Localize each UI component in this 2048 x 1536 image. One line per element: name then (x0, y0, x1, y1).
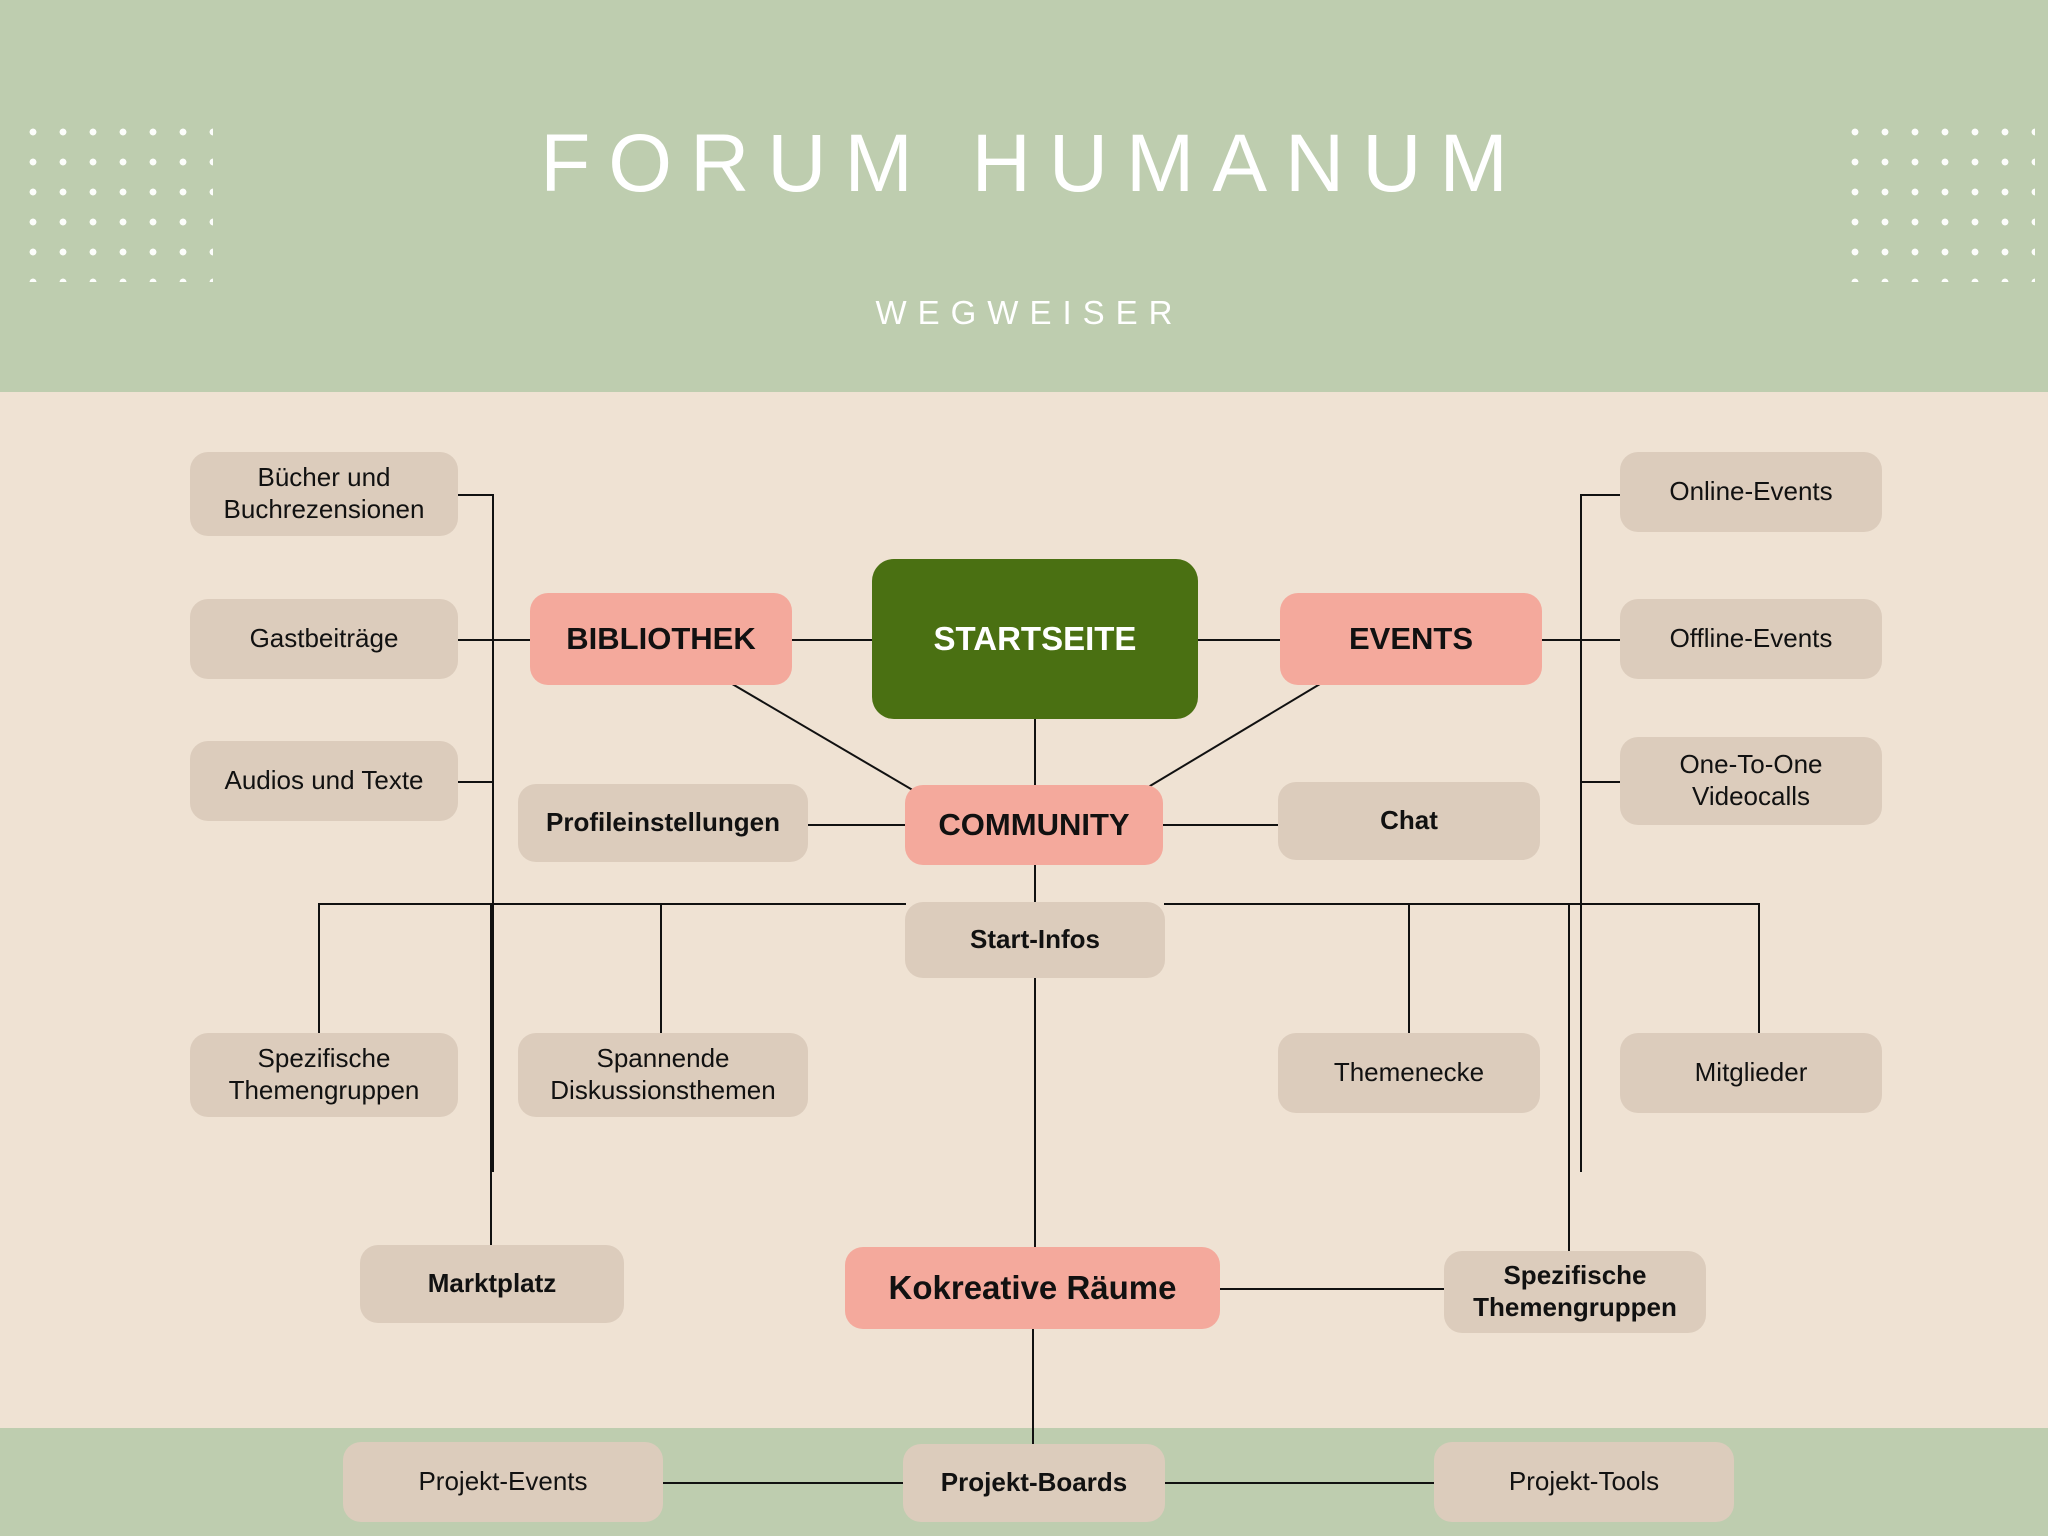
connector-buecher (458, 494, 494, 496)
connector-videocalls (1580, 781, 1620, 783)
node-label: Offline-Events (1670, 623, 1833, 655)
node-label: One-To-One Videocalls (1630, 749, 1872, 812)
node-label: Spezifische Themengruppen (200, 1043, 448, 1106)
node-audios-und-texte[interactable]: Audios und Texte (190, 741, 458, 821)
node-label: Themenecke (1334, 1057, 1484, 1089)
node-startseite[interactable]: STARTSEITE (872, 559, 1198, 719)
node-projekt-boards[interactable]: Projekt-Boards (903, 1444, 1165, 1522)
node-label: Chat (1380, 805, 1438, 837)
node-projekt-tools[interactable]: Projekt-Tools (1434, 1442, 1734, 1522)
page-root: FORUM HUMANUM WEGWEISER Bücher und Buchr… (0, 0, 2048, 1536)
node-label: Bücher und Buchrezensionen (200, 462, 448, 525)
node-offline-events[interactable]: Offline-Events (1620, 599, 1882, 679)
node-marktplatz[interactable]: Marktplatz (360, 1245, 624, 1323)
connector-events-spine (1580, 494, 1582, 1172)
node-label: BIBLIOTHEK (566, 620, 755, 658)
page-title: FORUM HUMANUM (0, 118, 2048, 210)
connector-events-out (1542, 639, 1580, 641)
node-label: Profileinstellungen (546, 807, 780, 839)
connector-community-chat (1163, 824, 1278, 826)
node-label: Mitglieder (1695, 1057, 1808, 1089)
node-one-to-one-videocalls[interactable]: One-To-One Videocalls (1620, 737, 1882, 825)
node-themenecke[interactable]: Themenecke (1278, 1033, 1540, 1113)
node-gastbeitraege[interactable]: Gastbeiträge (190, 599, 458, 679)
connector-audios (458, 781, 494, 783)
connector-bibliothek-spine (492, 494, 494, 1172)
connector-gastbeitraege (458, 639, 494, 641)
connector-drop-marktplatz (490, 903, 492, 1245)
node-label: Start-Infos (970, 924, 1100, 956)
node-label: Online-Events (1669, 476, 1832, 508)
node-label: Projekt-Boards (941, 1467, 1127, 1499)
connector-drop-mitglieder (1758, 903, 1760, 1033)
connector-online-events (1580, 494, 1620, 496)
connector-bibliothek-in (492, 639, 530, 641)
sitemap-diagram: Bücher und Buchrezensionen Gastbeiträge … (0, 392, 2048, 1428)
node-mitglieder[interactable]: Mitglieder (1620, 1033, 1882, 1113)
page-subtitle: WEGWEISER (0, 294, 2048, 332)
node-label: COMMUNITY (938, 806, 1129, 844)
node-spannende-diskussionsthemen[interactable]: Spannende Diskussionsthemen (518, 1033, 808, 1117)
connector-offline-events (1580, 639, 1620, 641)
connector-projektevents-projektboards (663, 1482, 903, 1484)
node-label: Marktplatz (428, 1268, 557, 1300)
node-label: Kokreative Räume (889, 1268, 1177, 1308)
node-events[interactable]: EVENTS (1280, 593, 1542, 685)
connector-kokreative-spezifische (1220, 1288, 1444, 1290)
connector-drop-spezifische-left (318, 903, 320, 1033)
connector-drop-themenecke (1408, 903, 1410, 1033)
node-spezifische-themengruppen-right[interactable]: Spezifische Themengruppen (1444, 1251, 1706, 1333)
connector-drop-spezifische-right (1568, 903, 1570, 1251)
node-buecher-und-buchrezensionen[interactable]: Bücher und Buchrezensionen (190, 452, 458, 536)
node-projekt-events[interactable]: Projekt-Events (343, 1442, 663, 1522)
connector-profileinstellungen-community (808, 824, 905, 826)
node-label: Gastbeiträge (250, 623, 399, 655)
node-profileinstellungen[interactable]: Profileinstellungen (518, 784, 808, 862)
node-kokreative-raeume[interactable]: Kokreative Räume (845, 1247, 1220, 1329)
node-label: STARTSEITE (934, 619, 1137, 659)
node-bibliothek[interactable]: BIBLIOTHEK (530, 593, 792, 685)
connector-bus-right (1164, 903, 1760, 905)
node-spezifische-themengruppen-left[interactable]: Spezifische Themengruppen (190, 1033, 458, 1117)
node-chat[interactable]: Chat (1278, 782, 1540, 860)
connector-bibliothek-startseite (792, 639, 872, 641)
node-label: Audios und Texte (225, 765, 424, 797)
connector-bus-left (318, 903, 906, 905)
node-label: Projekt-Tools (1509, 1466, 1659, 1498)
node-online-events[interactable]: Online-Events (1620, 452, 1882, 532)
node-label: Projekt-Events (418, 1466, 587, 1498)
node-community[interactable]: COMMUNITY (905, 785, 1163, 865)
connector-startseite-events (1198, 639, 1280, 641)
node-label: Spezifische Themengruppen (1454, 1260, 1696, 1323)
connector-drop-spannende (660, 903, 662, 1033)
node-label: Spannende Diskussionsthemen (528, 1043, 798, 1106)
connector-projektboards-projekttools (1165, 1482, 1434, 1484)
node-start-infos[interactable]: Start-Infos (905, 902, 1165, 978)
node-label: EVENTS (1349, 620, 1473, 658)
